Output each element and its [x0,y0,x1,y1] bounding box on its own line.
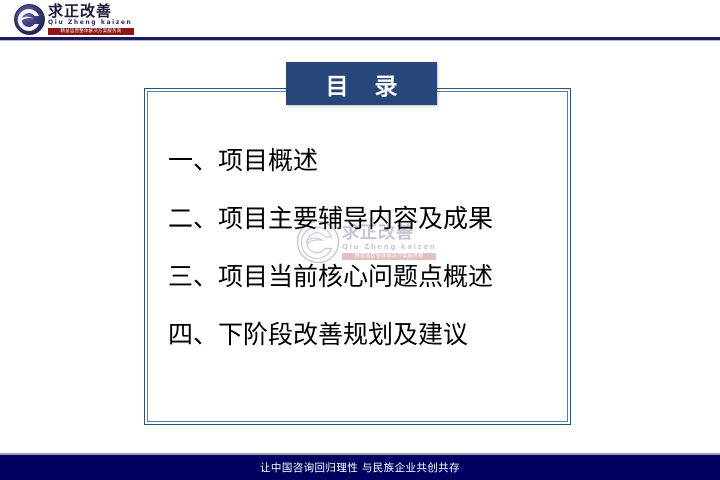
agenda-item-1[interactable]: 一、项目概述 [168,148,558,173]
logo-circle-icon [14,4,45,35]
slide-title-box: 目 录 [286,62,437,105]
logo-tagline: 精益运营整体解决方案服务商 [48,28,134,35]
slide-header: 求正改善 Qiu Zheng kaizen 精益运营整体解决方案服务商 [0,0,720,37]
agenda-item-3[interactable]: 三、项目当前核心问题点概述 [168,264,558,289]
logo-company-pinyin: Qiu Zheng kaizen [48,20,134,26]
slide-footer: 让中国咨询回归理性 与民族企业共创共存 [0,455,720,480]
footer-slogan: 让中国咨询回归理性 与民族企业共创共存 [260,460,460,475]
logo-company-name-cn: 求正改善 [48,4,134,19]
header-divider-rule-secondary [0,40,720,41]
company-logo: 求正改善 Qiu Zheng kaizen 精益运营整体解决方案服务商 [14,3,136,36]
logo-text-block: 求正改善 Qiu Zheng kaizen 精益运营整体解决方案服务商 [48,4,134,35]
page-title: 目 录 [316,67,406,101]
slide-canvas: 求正改善 Qiu Zheng kaizen 精益运营整体解决方案服务商 目 录 … [0,0,720,480]
agenda-list: 一、项目概述 二、项目主要辅导内容及成果 三、项目当前核心问题点概述 四、下阶段… [168,148,558,347]
agenda-item-4[interactable]: 四、下阶段改善规划及建议 [168,322,558,347]
agenda-item-2[interactable]: 二、项目主要辅导内容及成果 [168,206,558,231]
